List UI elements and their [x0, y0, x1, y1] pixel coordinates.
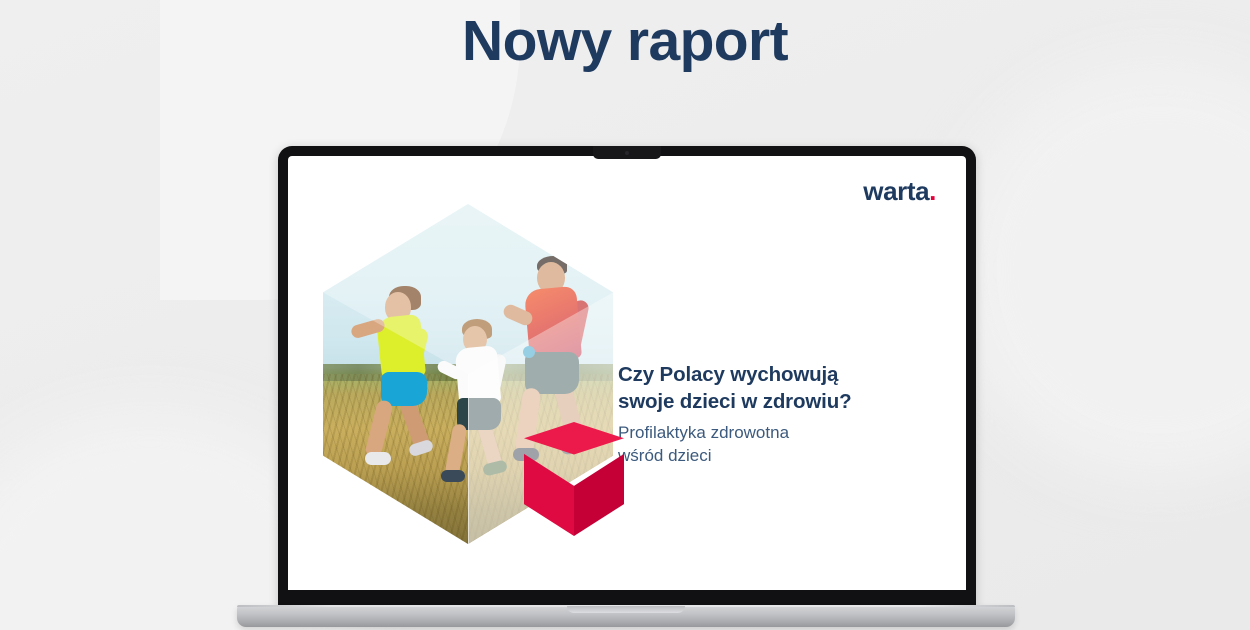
slide-subtitle: Profilaktyka zdrowotna wśród dzieci: [618, 422, 928, 468]
laptop-mockup: warta.: [237, 146, 1015, 626]
webcam-notch: [593, 146, 661, 159]
slide-title-line-2: swoje dzieci w zdrowiu?: [618, 388, 928, 415]
webcam-icon: [625, 151, 629, 155]
warta-logo: warta.: [863, 178, 936, 204]
runner-man-watch-icon: [523, 346, 535, 358]
slide-subtitle-line-1: Profilaktyka zdrowotna: [618, 422, 928, 445]
laptop-base: [237, 605, 1015, 627]
runner-woman-shoe-front: [365, 452, 391, 465]
laptop-base-notch: [567, 606, 685, 613]
warta-logo-text: warta: [863, 176, 929, 206]
runner-child-shoe-front: [441, 470, 465, 482]
laptop-lid: warta.: [278, 146, 976, 608]
slide-subtitle-line-2: wśród dzieci: [618, 445, 928, 468]
slide-copy-block: Czy Polacy wychowują swoje dzieci w zdro…: [618, 361, 928, 468]
laptop-screen: warta.: [288, 156, 966, 590]
warta-logo-dot: .: [929, 176, 936, 206]
slide-title: Czy Polacy wychowują swoje dzieci w zdro…: [618, 361, 928, 416]
red-isometric-cube-icon: [524, 422, 624, 536]
slide-title-line-1: Czy Polacy wychowują: [618, 361, 928, 388]
page-title: Nowy raport: [0, 11, 1250, 73]
